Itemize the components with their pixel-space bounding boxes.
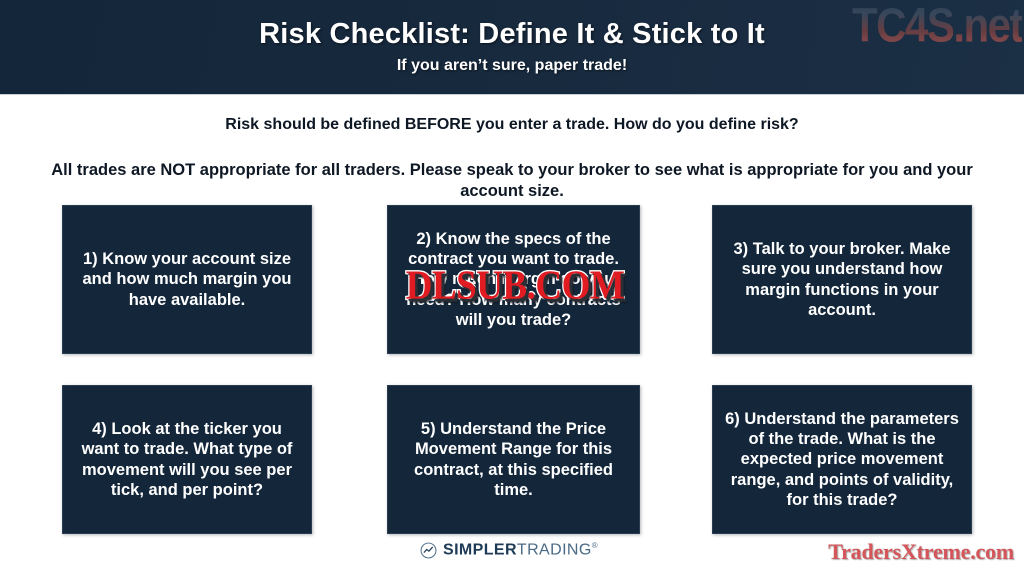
slide-header-band: Risk Checklist: Define It & Stick to It …	[0, 0, 1024, 94]
simpler-trading-wordmark: SIMPLERTRADING®	[443, 541, 598, 559]
intro-question: Risk should be defined BEFORE you enter …	[0, 116, 1024, 134]
simpler-trading-logo: SIMPLERTRADING®	[420, 541, 598, 559]
checklist-item-6: 6) Understand the parameters of the trad…	[712, 385, 972, 534]
checklist-item-4: 4) Look at the ticker you want to trade.…	[62, 385, 312, 534]
tc4s-watermark: TC4S.net	[852, 0, 1022, 53]
checklist-item-2: 2) Know the specs of the contract you wa…	[387, 205, 640, 354]
checklist-item-5: 5) Understand the Price Movement Range f…	[387, 385, 640, 534]
chart-circle-icon	[420, 542, 437, 559]
intro-disclaimer: All trades are NOT appropriate for all t…	[32, 160, 992, 202]
logo-bold-text: SIMPLER	[443, 541, 517, 558]
page-subtitle: If you aren’t sure, paper trade!	[0, 57, 1024, 75]
logo-registered-mark: ®	[592, 541, 598, 550]
checklist-item-1: 1) Know your account size and how much m…	[62, 205, 312, 354]
tradersxtreme-watermark: TradersXtreme.com	[828, 539, 1014, 565]
logo-light-text: TRADING	[517, 541, 592, 558]
checklist-item-3: 3) Talk to your broker. Make sure you un…	[712, 205, 972, 354]
slide-canvas: Risk Checklist: Define It & Stick to It …	[0, 0, 1024, 576]
